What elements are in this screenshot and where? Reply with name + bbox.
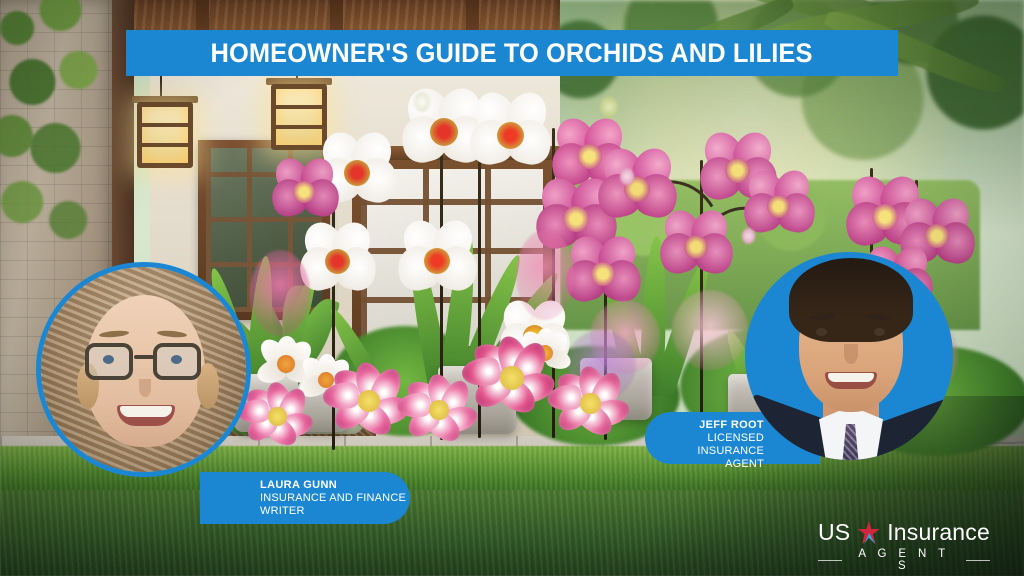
pink-lily-flower — [244, 386, 310, 448]
eye — [171, 355, 182, 364]
orchid-bud — [620, 168, 634, 185]
logo-agents-row: A G E N T S — [818, 548, 990, 572]
white-orchid-flower — [398, 220, 478, 296]
teeth — [120, 406, 172, 417]
logo-wordmark: US Insurance — [818, 520, 990, 545]
logo-insurance-text: Insurance — [887, 520, 990, 545]
pink-lily-flower — [554, 370, 626, 438]
avatar-laura-gunn — [36, 262, 251, 477]
star-icon — [857, 521, 880, 544]
mouth — [825, 372, 877, 389]
eye — [103, 355, 114, 364]
title-banner: HOMEOWNER'S GUIDE TO ORCHIDS AND LILIES — [126, 30, 898, 76]
pink-lily-flower — [404, 378, 474, 444]
presenter-role-line2: WRITER — [260, 505, 406, 518]
hanging-lantern — [137, 102, 193, 168]
pink-flower-spray — [672, 290, 748, 370]
eye — [874, 328, 885, 336]
page-title: HOMEOWNER'S GUIDE TO ORCHIDS AND LILIES — [211, 38, 813, 69]
lily-center — [277, 355, 295, 373]
white-orchid-flower — [300, 222, 376, 296]
pink-orchid-flower — [566, 236, 642, 308]
presenter-role-line1: INSURANCE AND FINANCE — [260, 492, 406, 505]
white-orchid-flower — [470, 92, 552, 170]
nose — [844, 344, 858, 364]
nose — [139, 379, 151, 397]
presenter-label-laura-gunn: LAURA GUNN INSURANCE AND FINANCE WRITER — [200, 472, 410, 524]
presenter-role-line1: LICENSED INSURANCE — [645, 432, 764, 458]
pink-orchid-flower — [744, 170, 816, 238]
lily-center — [580, 393, 601, 414]
pink-flower-spray — [250, 250, 310, 336]
presenter-name: LAURA GUNN — [260, 479, 406, 492]
logo-divider-left — [818, 560, 842, 561]
promotional-banner-image: HOMEOWNER'S GUIDE TO ORCHIDS AND LILIES … — [0, 0, 1024, 576]
pink-flower-spray — [516, 230, 574, 320]
eye — [816, 328, 827, 336]
logo-divider-right — [966, 560, 990, 561]
teeth — [828, 373, 874, 382]
presenter-name: JEFF ROOT — [645, 419, 764, 432]
lily-center — [500, 366, 524, 390]
hair — [789, 258, 913, 342]
orchid-bud — [742, 228, 755, 244]
avatar-jeff-root — [745, 252, 953, 460]
logo-us-text: US — [818, 520, 850, 545]
pink-orchid-flower — [660, 210, 734, 280]
lily-center — [268, 407, 287, 426]
mouth — [117, 405, 175, 426]
lily-center — [358, 390, 380, 412]
logo-agents-text: A G E N T S — [849, 548, 959, 572]
brand-logo[interactable]: US Insurance A G E N T S — [818, 520, 990, 570]
orchid-bud — [414, 92, 430, 112]
pink-lily-flower — [330, 366, 408, 440]
orchid-bud — [600, 96, 618, 118]
pink-orchid-flower — [272, 158, 340, 222]
lily-center — [429, 400, 449, 420]
climbing-vines — [0, 0, 122, 292]
pink-lily-flower — [470, 340, 552, 418]
eyeglass-bridge — [134, 355, 154, 359]
presenter-role-line2: AGENT — [645, 458, 764, 471]
